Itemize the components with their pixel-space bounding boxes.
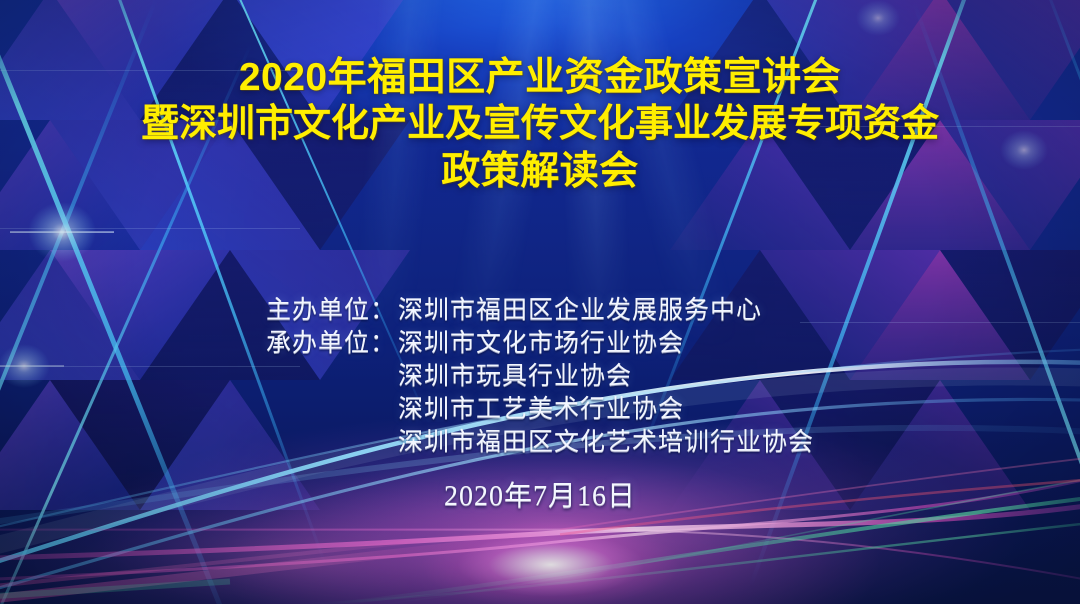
event-banner: 2020年福田区产业资金政策宣讲会 暨深圳市文化产业及宣传文化事业发展专项资金 …	[0, 0, 1080, 604]
organizer-value: 深圳市工艺美术行业协会	[398, 393, 684, 426]
organizer-label: 主办单位：	[266, 294, 398, 327]
organizer-row: 主办单位： 深圳市福田区企业发展服务中心	[266, 294, 814, 327]
organizer-label: 承办单位：	[266, 327, 398, 360]
organizer-value: 深圳市福田区企业发展服务中心	[398, 294, 762, 327]
organizer-row: 深圳市福田区文化艺术培训行业协会	[266, 426, 814, 459]
organizer-value: 深圳市文化市场行业协会	[398, 327, 684, 360]
event-date: 2020年7月16日	[0, 474, 1080, 514]
organizer-row: 承办单位： 深圳市文化市场行业协会	[266, 327, 814, 360]
title-line-2: 暨深圳市文化产业及宣传文化事业发展专项资金	[0, 101, 1080, 148]
banner-title: 2020年福田区产业资金政策宣讲会 暨深圳市文化产业及宣传文化事业发展专项资金 …	[0, 54, 1080, 195]
organizer-list: 主办单位： 深圳市福田区企业发展服务中心 承办单位： 深圳市文化市场行业协会 深…	[0, 294, 1080, 459]
title-line-1: 2020年福田区产业资金政策宣讲会	[0, 54, 1080, 101]
organizer-row: 深圳市玩具行业协会	[266, 360, 814, 393]
organizer-value: 深圳市福田区文化艺术培训行业协会	[398, 426, 814, 459]
title-line-3: 政策解读会	[0, 148, 1080, 195]
organizer-value: 深圳市玩具行业协会	[398, 360, 632, 393]
organizer-row: 深圳市工艺美术行业协会	[266, 393, 814, 426]
